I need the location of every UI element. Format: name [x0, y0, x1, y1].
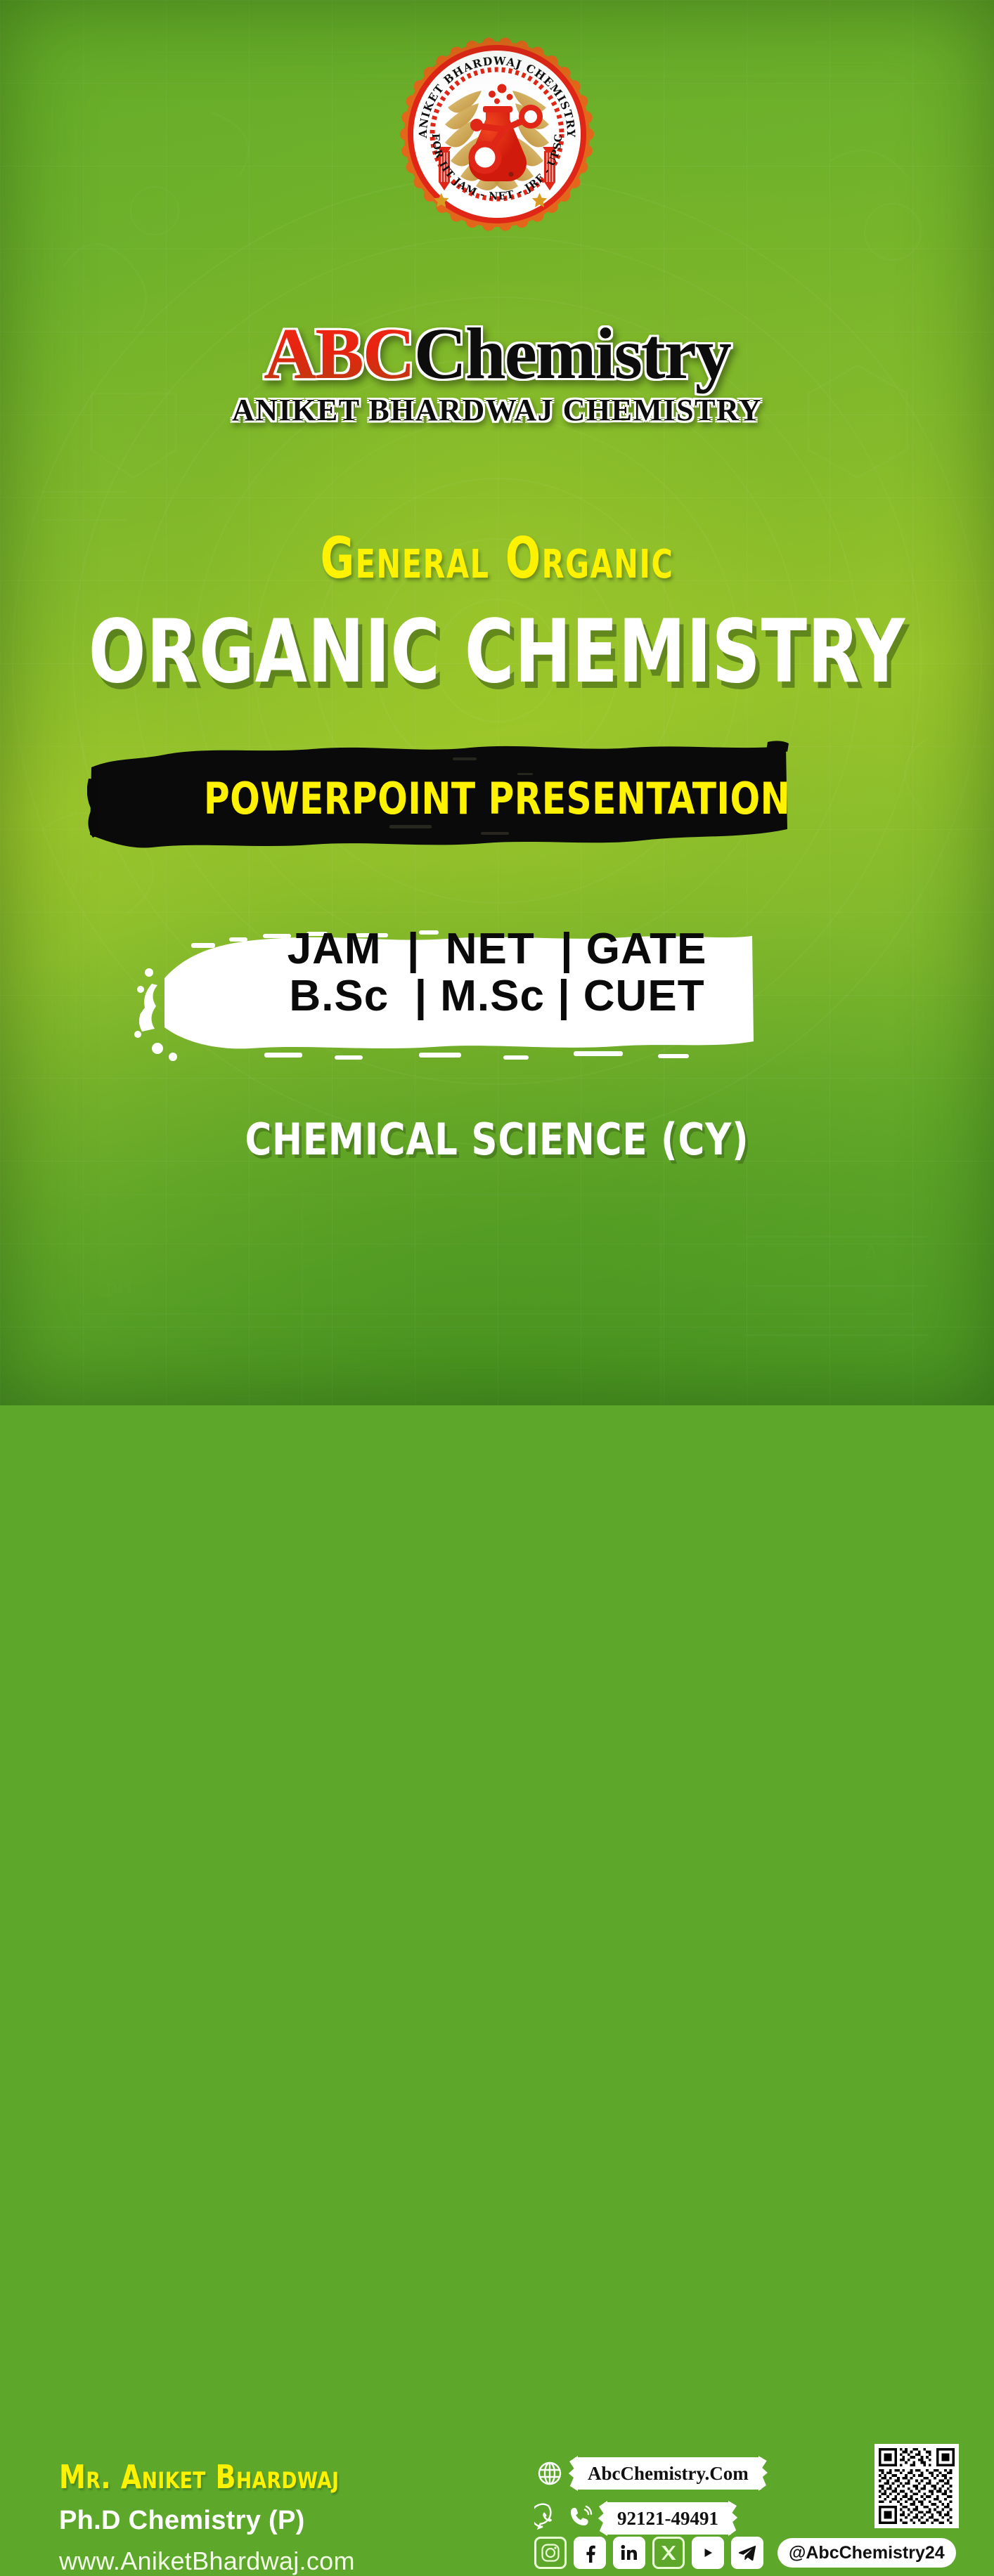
subject-heading: CHEMICAL SCIENCE (CY)	[40, 1114, 955, 1165]
instructor-name: Mr. Aniket Bhardwaj	[59, 2458, 339, 2496]
exam-list: JAM | NET | GATE B.Sc | M.Sc | CUET	[0, 926, 994, 1020]
footer: Mr. Aniket Bhardwaj Ph.D Chemistry (P) w…	[0, 1202, 994, 1405]
x-twitter-icon[interactable]	[652, 2537, 685, 2569]
social-handle[interactable]: @AbcChemistry24	[777, 2538, 956, 2568]
kicker-heading: General Organic	[89, 526, 904, 591]
instagram-icon[interactable]	[534, 2537, 567, 2569]
contact-row-website[interactable]: AbcChemistry.Com	[534, 2454, 766, 2493]
phone-pill[interactable]: 92121-49491	[605, 2502, 731, 2535]
youtube-icon[interactable]	[692, 2537, 724, 2569]
social-links: @AbcChemistry24	[534, 2537, 956, 2569]
phone-ring-icon	[567, 2504, 593, 2534]
brand-tagline: ANIKET BHARDWAJ CHEMISTRY	[0, 395, 994, 426]
brand-wordmark: ABCChemistry ANIKET BHARDWAJ CHEMISTRY	[0, 318, 994, 426]
contact-row-phone[interactable]: 92121-49491	[534, 2499, 766, 2538]
seal-svg: ANIKET BHARDWAJ CHEMISTRY FOR IIT JAM - …	[399, 37, 595, 232]
linkedin-icon[interactable]	[613, 2537, 645, 2569]
page-title: ORGANIC CHEMISTRY	[70, 609, 924, 696]
globe-icon	[534, 2458, 565, 2489]
website-plain: www.AniketBhardwaj.com	[59, 2546, 355, 2576]
exam-row-1: JAM | NET | GATE	[0, 926, 994, 973]
banner-label: POWERPOINT PRESENTATION	[50, 773, 945, 824]
whatsapp-icon	[534, 2503, 562, 2535]
instructor-degree: Ph.D Chemistry (P)	[59, 2506, 305, 2536]
telegram-icon[interactable]	[731, 2537, 763, 2569]
website-pill[interactable]: AbcChemistry.Com	[575, 2457, 761, 2490]
qr-code[interactable]	[874, 2444, 959, 2528]
contact-list: AbcChemistry.Com	[534, 2454, 766, 2544]
facebook-icon[interactable]	[574, 2537, 606, 2569]
brand-seal-logo: ANIKET BHARDWAJ CHEMISTRY FOR IIT JAM - …	[399, 37, 595, 232]
wordmark-abc: ABC	[264, 313, 414, 394]
poster-canvas: H₂O CH₃ pH Δ σ π	[0, 0, 994, 1405]
svg-text:H₂O: H₂O	[65, 866, 103, 887]
wordmark-chemistry: Chemistry	[414, 313, 730, 394]
exam-row-2: B.Sc | M.Sc | CUET	[0, 973, 994, 1020]
